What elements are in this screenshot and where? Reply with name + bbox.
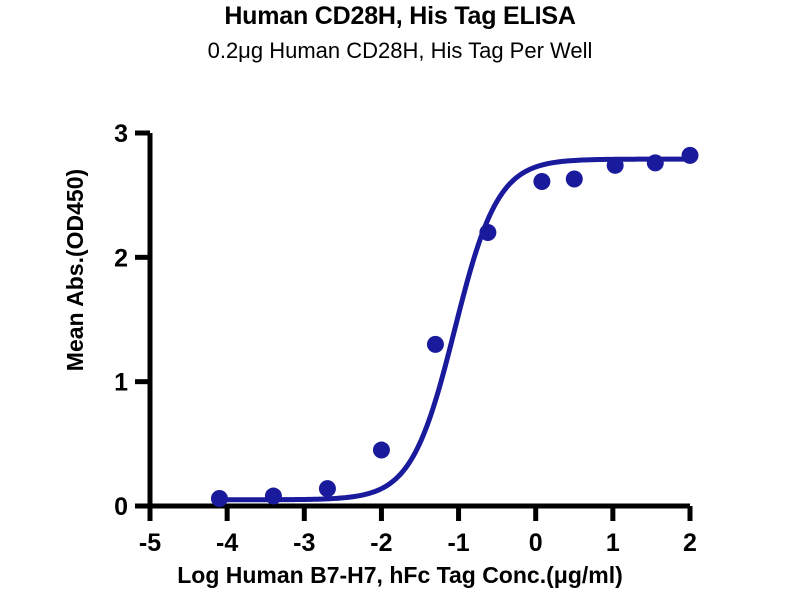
y-tick-label: 0: [114, 493, 128, 521]
data-point: [647, 154, 664, 171]
data-point: [211, 490, 228, 507]
x-tick-label: -2: [370, 529, 392, 557]
x-tick-labels: -5-4-3-2-1012: [139, 529, 697, 557]
data-point: [533, 173, 550, 190]
data-point: [682, 147, 699, 164]
data-point: [427, 336, 444, 353]
x-tick-label: 2: [683, 529, 697, 557]
y-tick-label: 1: [114, 369, 128, 397]
x-tick-label: -1: [447, 529, 469, 557]
data-point: [479, 224, 496, 241]
data-point: [607, 157, 624, 174]
x-tick-label: 0: [529, 529, 543, 557]
data-point: [373, 442, 390, 459]
chart-figure: Human CD28H, His Tag ELISA 0.2μg Human C…: [0, 0, 800, 600]
data-point: [265, 488, 282, 505]
x-tick-label: -5: [139, 529, 161, 557]
y-tick-label: 3: [114, 120, 128, 148]
x-tick-label: -3: [293, 529, 315, 557]
axes: [150, 133, 690, 506]
x-tick-label: 1: [606, 529, 620, 557]
data-point: [566, 171, 583, 188]
x-tick-label: -4: [216, 529, 238, 557]
plot-area: -5-4-3-2-1012 0123: [0, 0, 800, 600]
y-tick-label: 2: [114, 244, 128, 272]
y-tick-labels: 0123: [114, 120, 128, 521]
data-point: [319, 480, 336, 497]
sigmoid-fit-curve: [219, 159, 690, 500]
